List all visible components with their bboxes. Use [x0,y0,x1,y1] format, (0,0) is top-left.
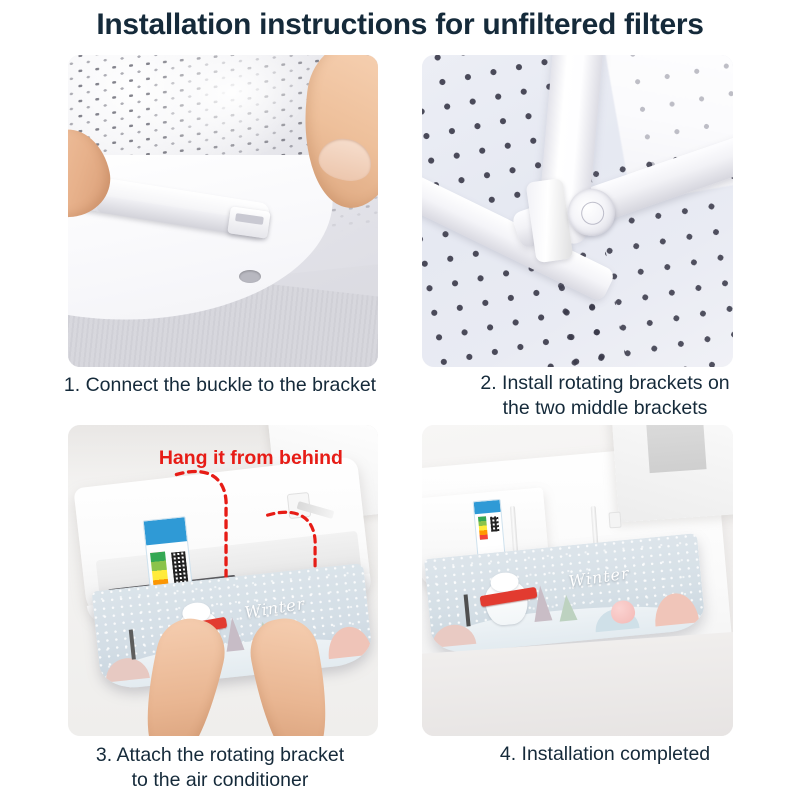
step-1-panel [68,55,378,367]
step-4-panel: Winter [422,425,733,736]
qr-code [490,516,500,532]
energy-rating-bars [477,516,488,539]
hang-instruction-overlay: Hang it from behind [68,447,378,470]
step-2-caption-line-2: the two middle brackets [410,396,800,421]
conifer-tree-2 [557,595,577,623]
step-2-caption-line-1: 2. Install rotating brackets on [410,371,800,396]
step-3-caption: 3. Attach the rotating bracket to the ai… [20,743,420,792]
installation-completed-photo: Winter [422,425,733,736]
step-4-caption: 4. Installation completed [410,742,800,767]
instruction-poster: Installation instructions for unfiltered… [0,0,800,800]
label-header [474,500,501,514]
step-3-caption-line-2: to the air conditioner [20,768,420,793]
upper-cabinet [611,425,733,523]
step-2-panel [422,55,733,367]
page-title: Installation instructions for unfiltered… [0,8,800,42]
step-3-caption-line-1: 3. Attach the rotating bracket [20,743,420,768]
step-2-caption: 2. Install rotating brackets on the two … [410,371,800,420]
perforated-sheet-with-buckle-photo [68,55,378,367]
bracket-hook [608,512,621,528]
step-1-caption-line-1: 1. Connect the buckle to the bracket [20,373,420,398]
mounting-hole [239,270,261,283]
step-3-panel: Winter Hang it from behind [68,425,378,736]
step-1-caption: 1. Connect the buckle to the bracket [20,373,420,398]
step-4-caption-line-1: 4. Installation completed [410,742,800,767]
energy-label-sticker [472,499,505,557]
attach-to-air-conditioner-photo: Winter Hang it from behind [68,425,378,736]
rotating-bracket-closeup-photo [422,55,733,367]
